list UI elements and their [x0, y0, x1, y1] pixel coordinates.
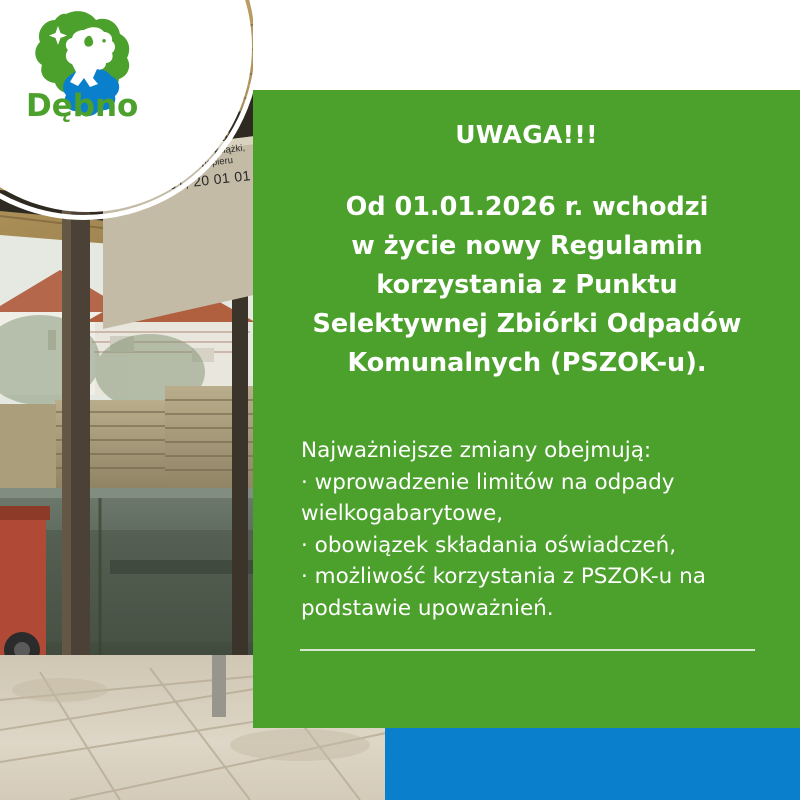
blue-accent-bar: [385, 728, 800, 800]
poster-canvas: Papier, tektura gazety, czasopisma, ksią…: [0, 0, 800, 800]
change-item-3-a: · możliwość korzystania z PSZOK-u na: [301, 561, 779, 593]
headline-line: Komunalnych (PSZOK-u).: [277, 344, 777, 383]
headline-line: Od 01.01.2026 r. wchodzi: [277, 188, 777, 227]
headline-line: Selektywnej Zbiórki Odpadów: [277, 305, 777, 344]
headline-block: Od 01.01.2026 r. wchodzi w życie nowy Re…: [277, 188, 777, 383]
changes-intro: Najważniejsze zmiany obejmują:: [301, 435, 779, 467]
logo-wordmark: Dębno: [26, 88, 138, 124]
green-content-panel: UWAGA!!! Od 01.01.2026 r. wchodzi w życi…: [253, 90, 800, 728]
change-item-1-b: wielkogabarytowe,: [301, 498, 779, 530]
headline-line: korzystania z Punktu: [277, 266, 777, 305]
change-item-1-a: · wprowadzenie limitów na odpady: [301, 467, 779, 499]
attention-heading: UWAGA!!!: [253, 120, 800, 149]
debno-logo[interactable]: Dębno: [14, 8, 142, 126]
divider-rule: [300, 649, 755, 651]
changes-list-block: Najważniejsze zmiany obejmują: · wprowad…: [301, 435, 779, 624]
headline-line: w życie nowy Regulamin: [277, 227, 777, 266]
change-item-2: · obowiązek składania oświadczeń,: [301, 530, 779, 562]
change-item-3-b: podstawie upoważnień.: [301, 593, 779, 625]
